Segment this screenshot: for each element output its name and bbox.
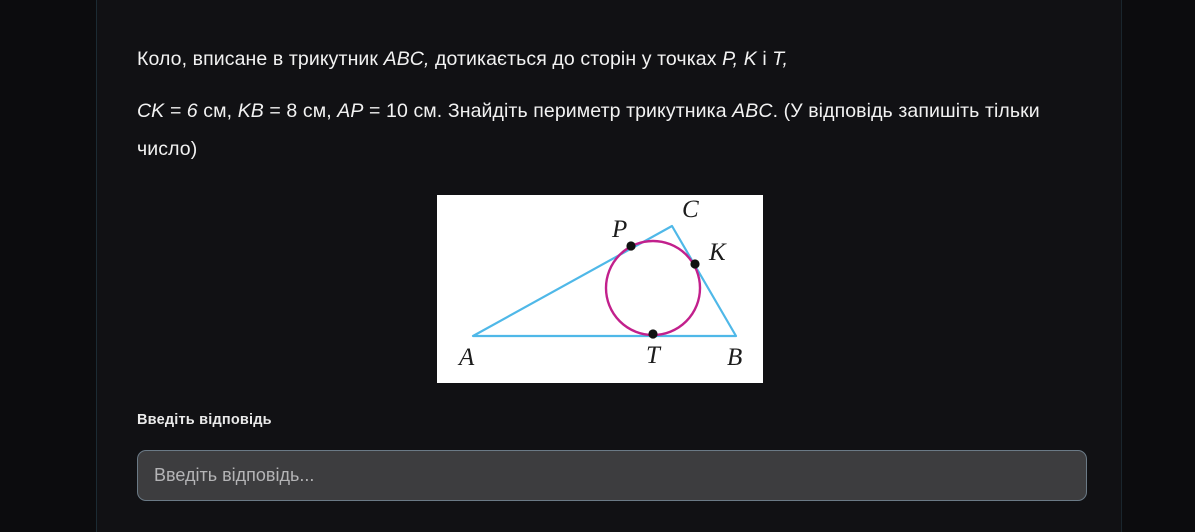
math-label: T, <box>772 48 788 70</box>
math-label: ABC, <box>384 48 430 70</box>
text-run: = 8 см, <box>264 100 337 122</box>
figure-label-k: K <box>708 239 727 266</box>
text-run: см, <box>198 100 238 122</box>
text-run: Коло, вписане в трикутник <box>137 48 384 70</box>
math-label: CK = 6 <box>137 100 198 122</box>
figure-label-p: P <box>611 216 627 243</box>
math-label: P, K <box>722 48 757 70</box>
page-root: Коло, вписане в трикутник ABC, дотикаєть… <box>0 0 1195 532</box>
figure-label-c: C <box>682 196 699 223</box>
question-line-1: Коло, вписане в трикутник ABC, дотикаєть… <box>137 40 1087 78</box>
geometry-figure: ABCPKT <box>437 195 763 383</box>
question-text-block: Коло, вписане в трикутник ABC, дотикаєть… <box>137 40 1087 168</box>
math-label: KB <box>238 100 264 122</box>
figure-background <box>437 195 763 383</box>
figure-label-b: B <box>727 344 742 371</box>
text-run: і <box>757 48 772 70</box>
math-label: ABC <box>732 100 772 122</box>
tangent-point-t <box>648 329 657 338</box>
answer-input[interactable] <box>137 450 1087 501</box>
math-label: AP <box>337 100 363 122</box>
text-run: дотикається до сторін у точках <box>430 48 723 70</box>
figure-label-t: T <box>646 342 662 369</box>
text-run: = 10 см. Знайдіть периметр трикутника <box>364 100 733 122</box>
question-content-panel: Коло, вписане в трикутник ABC, дотикаєть… <box>96 0 1122 532</box>
figure-label-a: A <box>457 344 475 371</box>
question-line-2: CK = 6 см, KB = 8 см, AP = 10 см. Знайді… <box>137 92 1087 168</box>
geometry-figure-svg: ABCPKT <box>437 195 763 383</box>
answer-field-label: Введіть відповідь <box>137 412 272 428</box>
tangent-point-p <box>626 241 635 250</box>
tangent-point-k <box>690 259 699 268</box>
